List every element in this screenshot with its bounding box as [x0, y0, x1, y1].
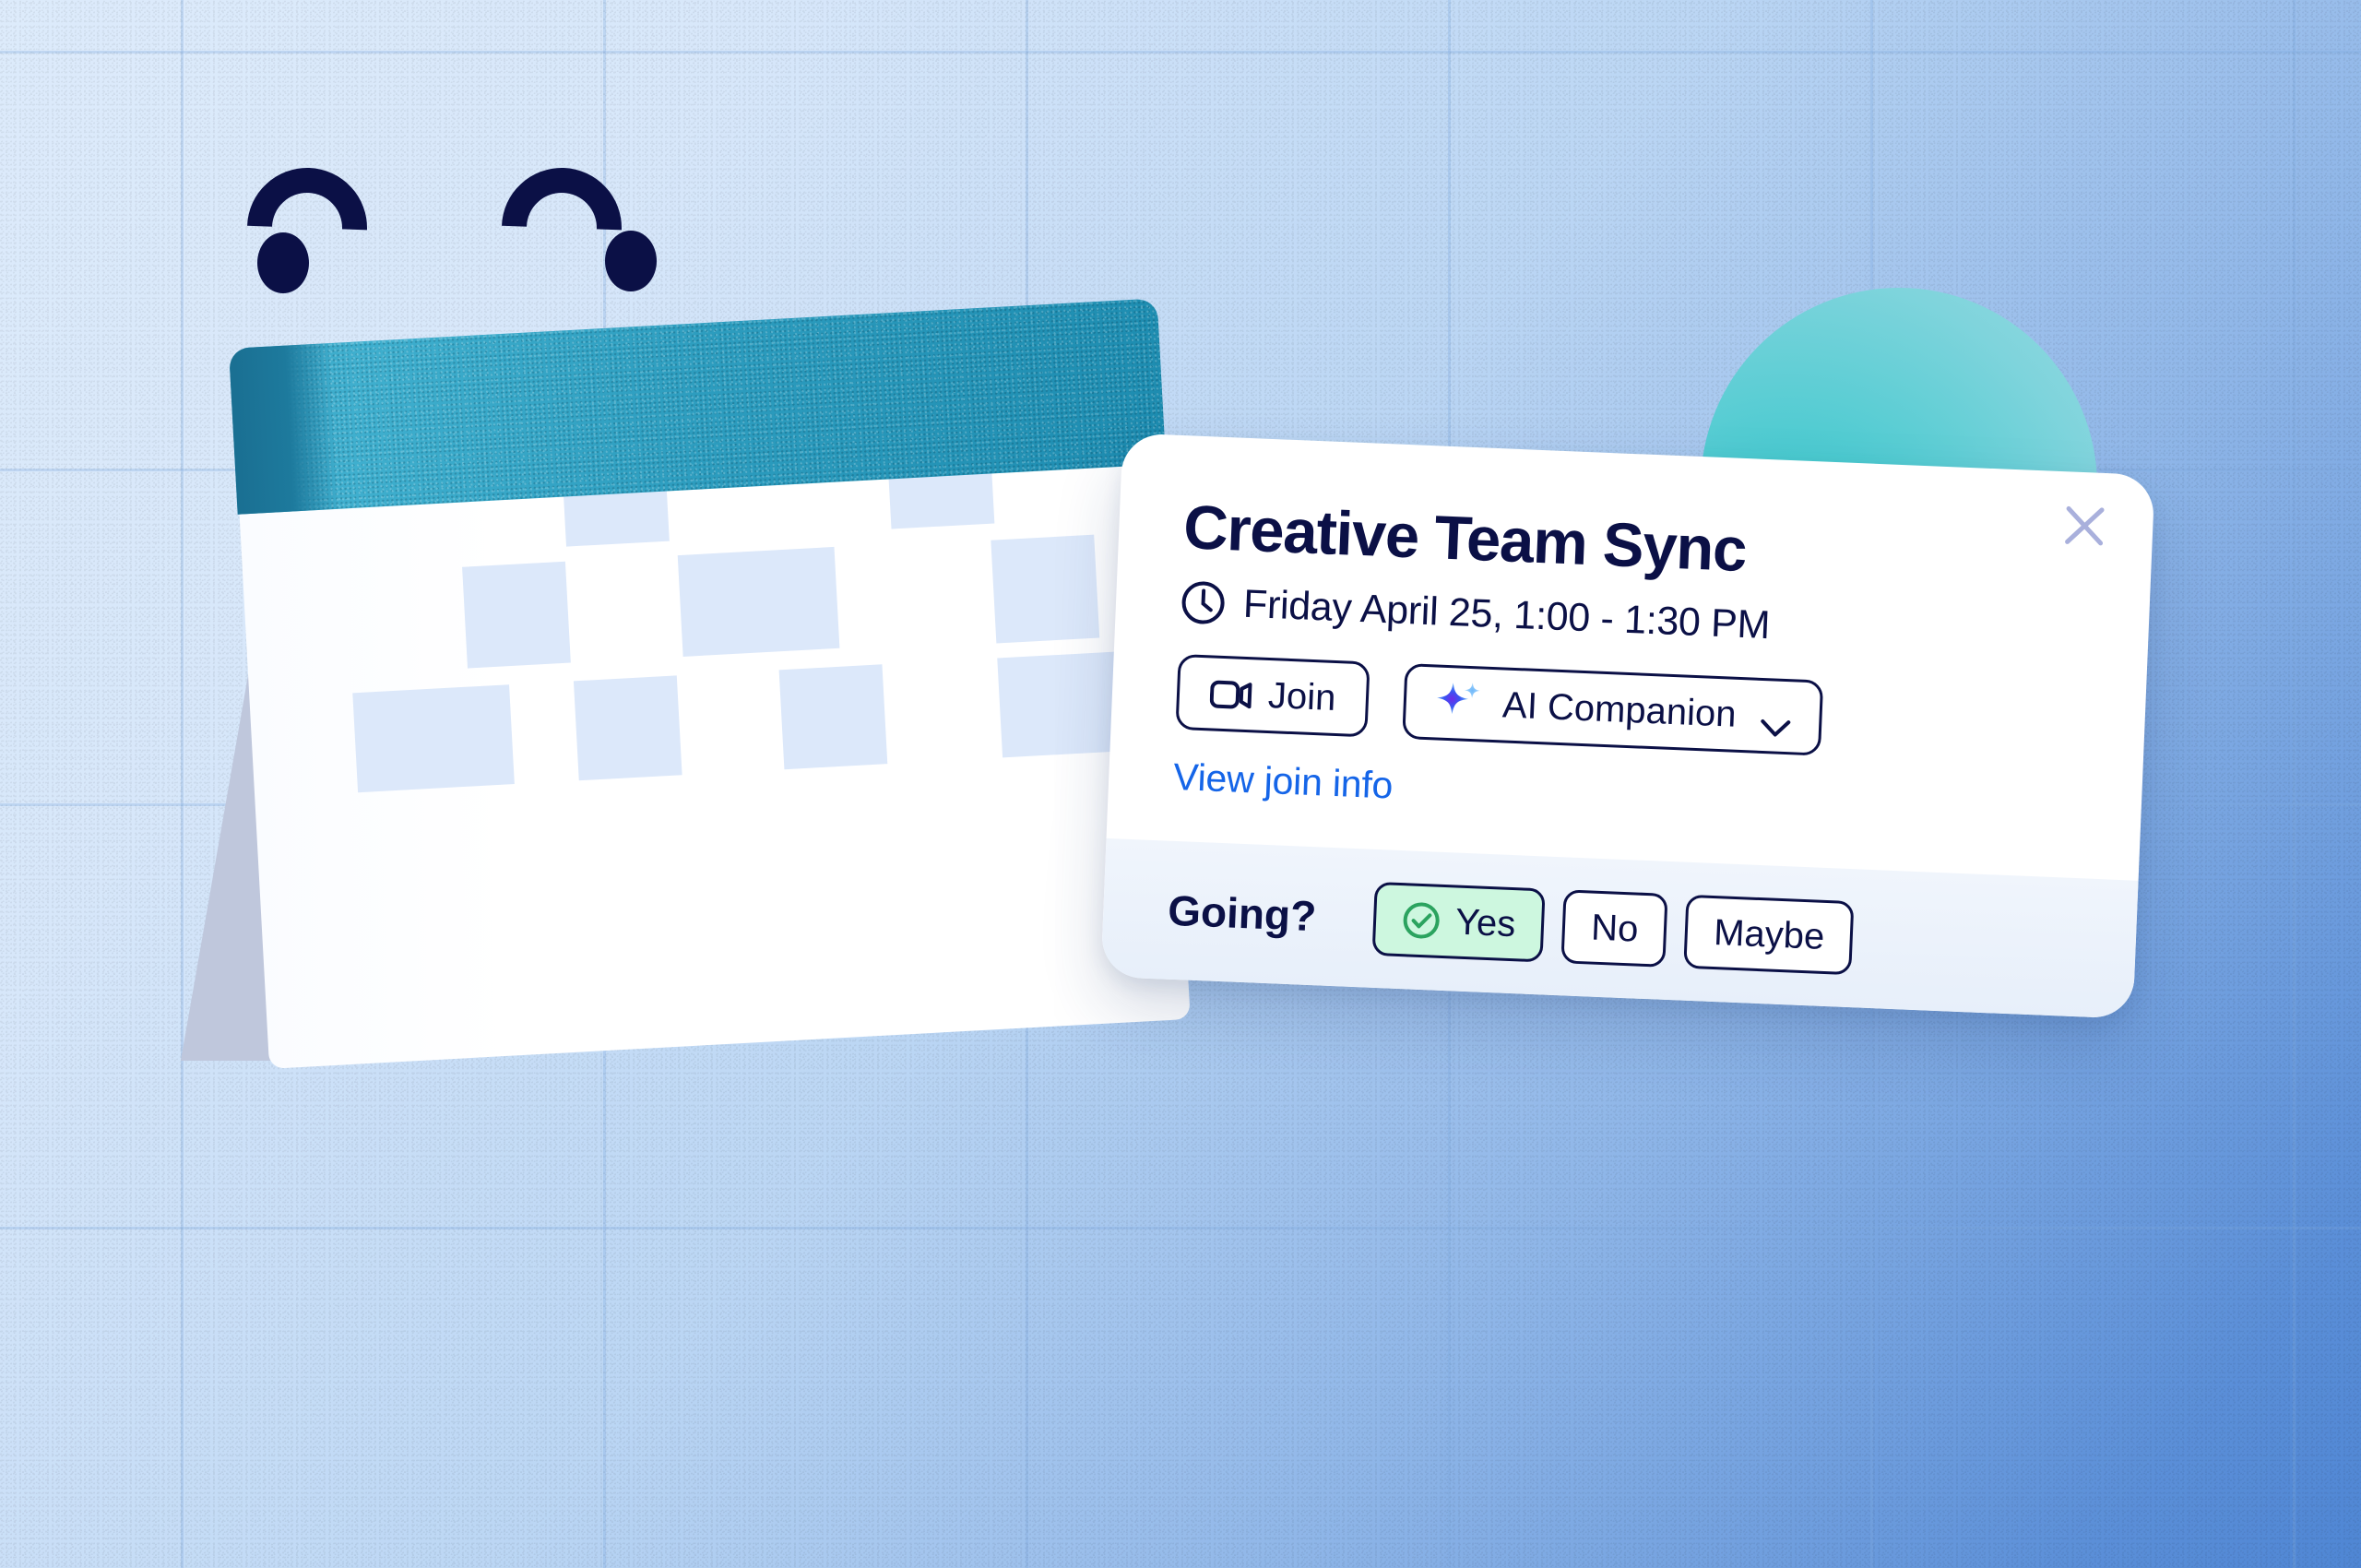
rsvp-maybe-button[interactable]: Maybe — [1684, 895, 1855, 975]
calendar-cell — [462, 562, 571, 669]
calendar-header-shadow-edge — [229, 343, 339, 515]
rsvp-no-button[interactable]: No — [1561, 889, 1668, 968]
card-action-row: Join — [1175, 654, 2082, 766]
rsvp-no-label: No — [1590, 907, 1639, 950]
event-datetime-text: Friday April 25, 1:00 - 1:30 PM — [1242, 582, 1771, 648]
check-circle-icon — [1401, 900, 1442, 941]
chevron-down-icon — [1760, 706, 1792, 727]
view-join-info-link[interactable]: View join info — [1172, 755, 1394, 808]
sparkle-icon — [1433, 678, 1485, 730]
ai-companion-button-label: AI Companion — [1501, 684, 1737, 735]
calendar-cell — [991, 535, 1099, 644]
ai-companion-button[interactable]: AI Companion — [1403, 663, 1823, 756]
desk-calendar-illustration — [0, 0, 1291, 1153]
event-datetime-row: Friday April 25, 1:00 - 1:30 PM — [1180, 579, 2084, 661]
calendar-ring-ball — [605, 231, 657, 291]
calendar-cell — [678, 547, 840, 657]
join-button[interactable]: Join — [1175, 654, 1370, 737]
close-icon[interactable] — [2058, 499, 2111, 552]
video-camera-icon — [1209, 678, 1252, 711]
rsvp-button-group: Yes No Maybe — [1372, 882, 1855, 975]
going-prompt-label: Going? — [1167, 885, 1317, 942]
rsvp-yes-button[interactable]: Yes — [1372, 882, 1546, 963]
calendar-cell — [779, 664, 888, 769]
calendar-cell — [574, 675, 682, 780]
join-button-label: Join — [1267, 675, 1336, 719]
rsvp-yes-label: Yes — [1454, 901, 1516, 945]
meeting-popup-card: Creative Team Sync Friday April 25, 1:00… — [1100, 433, 2154, 1018]
calendar-cell — [352, 684, 515, 792]
clock-icon — [1180, 579, 1227, 626]
page-title: Creative Team Sync — [1182, 496, 2088, 596]
rsvp-maybe-label: Maybe — [1713, 912, 1825, 958]
calendar-ring-ball — [257, 232, 309, 293]
card-main-section: Creative Team Sync Friday April 25, 1:00… — [1108, 433, 2154, 838]
calendar-ring-arc — [222, 143, 392, 313]
